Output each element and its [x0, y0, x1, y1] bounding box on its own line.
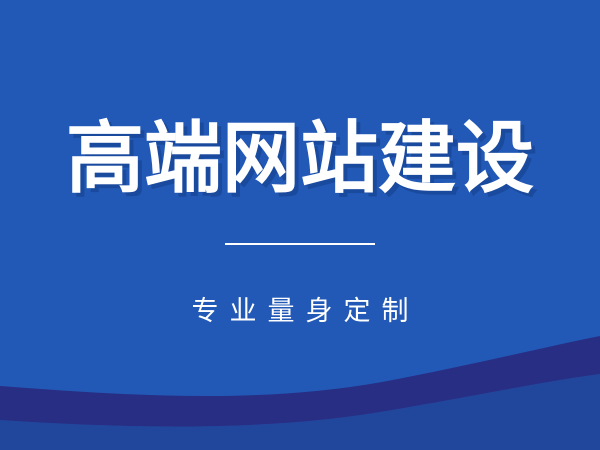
banner-title: 高端网站建设 — [0, 112, 600, 204]
title-divider — [225, 243, 375, 245]
banner-subtitle: 专业量身定制 — [0, 292, 600, 330]
banner-content: 高端网站建设 专业量身定制 — [0, 0, 600, 450]
promo-banner: 高端网站建设 专业量身定制 — [0, 0, 600, 450]
